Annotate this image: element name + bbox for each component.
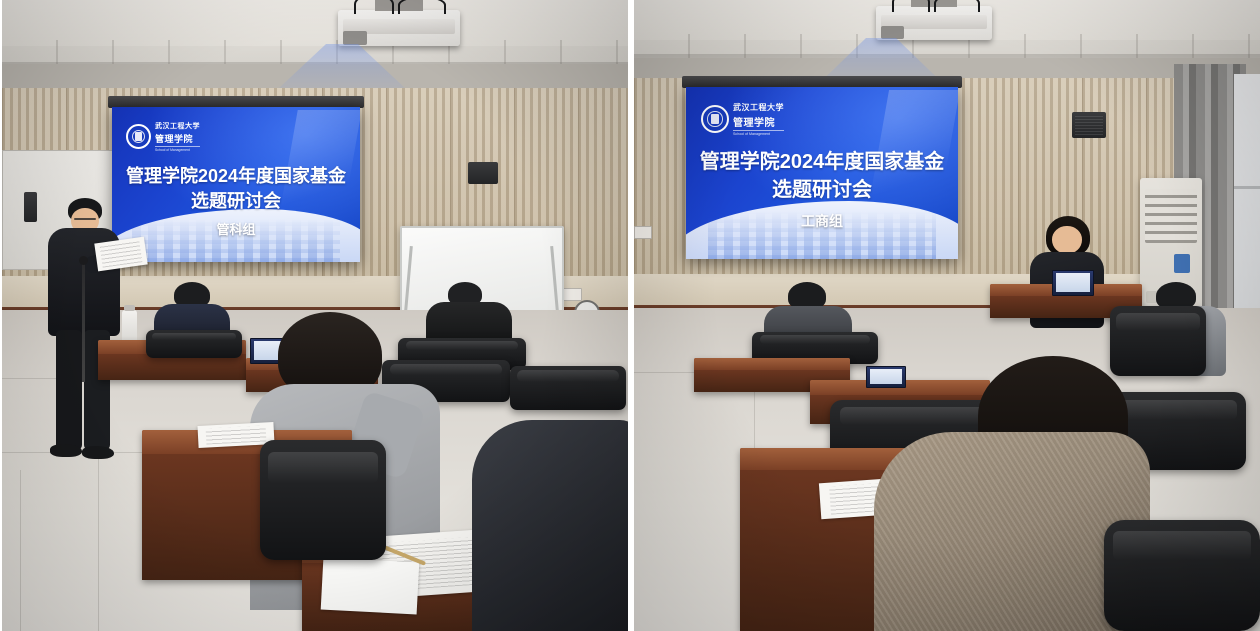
logo-text-block: 武汉工程大学 管理学院 School of Management bbox=[733, 102, 784, 136]
projection-screen: 武汉工程大学 管理学院 School of Management 管理学院202… bbox=[112, 107, 360, 262]
projector-cable bbox=[934, 0, 980, 12]
chair-highlight bbox=[760, 335, 871, 343]
screenshot-root: 武汉工程大学 管理学院 School of Management 管理学院202… bbox=[0, 0, 1260, 631]
chair bbox=[1104, 520, 1260, 631]
laptop[interactable] bbox=[1052, 270, 1094, 296]
logo-text-block: 武汉工程大学 管理学院 School of Management bbox=[155, 121, 200, 152]
wall-speaker-icon bbox=[468, 162, 498, 184]
university-seal-icon bbox=[701, 105, 729, 133]
presenter-leg bbox=[56, 330, 82, 450]
presenter-face bbox=[1052, 226, 1082, 254]
slide-group-label: 工商组 bbox=[772, 211, 872, 231]
projection-screen: 武汉工程大学 管理学院 School of Management 管理学院202… bbox=[686, 87, 958, 259]
chair-highlight bbox=[268, 452, 379, 483]
ceiling-projector bbox=[338, 10, 460, 46]
wall-outlet bbox=[634, 226, 652, 239]
school-logo: 武汉工程大学 管理学院 School of Management bbox=[701, 102, 784, 136]
microphone-stand bbox=[82, 262, 85, 382]
photo-divider bbox=[628, 0, 634, 631]
left-photo: 武汉工程大学 管理学院 School of Management 管理学院202… bbox=[2, 0, 628, 631]
ac-vent-grille bbox=[1145, 189, 1197, 243]
presenter-shoe bbox=[82, 446, 114, 459]
school-logo: 武汉工程大学 管理学院 School of Management bbox=[126, 121, 200, 152]
slide-background: 武汉工程大学 管理学院 School of Management 管理学院202… bbox=[686, 87, 958, 259]
chair-highlight bbox=[152, 333, 236, 340]
logo-divider bbox=[155, 146, 200, 147]
chair bbox=[146, 330, 242, 358]
left-margin bbox=[0, 0, 2, 631]
projector-cable bbox=[892, 0, 930, 12]
projector-lens bbox=[343, 31, 367, 45]
water-bottle bbox=[122, 310, 137, 344]
laptop-document bbox=[1056, 273, 1090, 291]
slide-title-line-2: 选题研讨会 bbox=[686, 178, 958, 204]
desk-top bbox=[694, 358, 850, 370]
glasses-icon bbox=[74, 218, 96, 220]
chair bbox=[260, 440, 386, 560]
papers bbox=[321, 558, 420, 615]
window bbox=[1234, 74, 1260, 324]
slide-title-line-2: 选题研讨会 bbox=[112, 190, 360, 213]
audience-jacket bbox=[472, 420, 628, 631]
university-seal-icon bbox=[126, 124, 151, 149]
projector-cable bbox=[398, 0, 446, 14]
projector-cable bbox=[354, 0, 394, 14]
logo-college-name: 管理学院 bbox=[155, 132, 200, 145]
wall-speaker-icon bbox=[24, 192, 37, 222]
logo-english-name: School of Management bbox=[733, 132, 784, 136]
paper-text-lines bbox=[205, 425, 267, 445]
logo-english-name: School of Management bbox=[155, 148, 200, 152]
logo-university-name: 武汉工程大学 bbox=[155, 121, 200, 131]
chair-highlight bbox=[1116, 313, 1200, 331]
slide-title-line-1: 管理学院2024年度国家基金 bbox=[112, 165, 360, 188]
slide-title-line-1: 管理学院2024年度国家基金 bbox=[686, 150, 958, 176]
bottle-cap bbox=[124, 305, 135, 310]
chair-highlight bbox=[517, 370, 619, 381]
floor-seam bbox=[20, 470, 21, 631]
right-photo: 武汉工程大学 管理学院 School of Management 管理学院202… bbox=[634, 0, 1260, 631]
slide-background: 武汉工程大学 管理学院 School of Management 管理学院202… bbox=[112, 107, 360, 262]
logo-university-name: 武汉工程大学 bbox=[733, 102, 784, 113]
projector-lens bbox=[881, 26, 904, 40]
chair bbox=[510, 366, 626, 410]
microphone-icon bbox=[79, 256, 88, 265]
wall-speaker-icon bbox=[1072, 112, 1106, 138]
chair-highlight bbox=[1113, 531, 1250, 560]
speaker-mesh bbox=[1075, 115, 1102, 135]
window-frame bbox=[1234, 186, 1260, 189]
handout-text-lines bbox=[100, 241, 143, 268]
wall-outlet bbox=[562, 288, 582, 301]
presenter-shoe bbox=[50, 444, 82, 457]
slide-group-label: 管科组 bbox=[190, 219, 282, 238]
laptop-screen bbox=[1052, 270, 1094, 296]
logo-divider bbox=[733, 130, 784, 131]
logo-college-name: 管理学院 bbox=[733, 114, 784, 129]
ac-brand-badge bbox=[1174, 254, 1190, 273]
foreground-audience-member bbox=[472, 420, 628, 631]
